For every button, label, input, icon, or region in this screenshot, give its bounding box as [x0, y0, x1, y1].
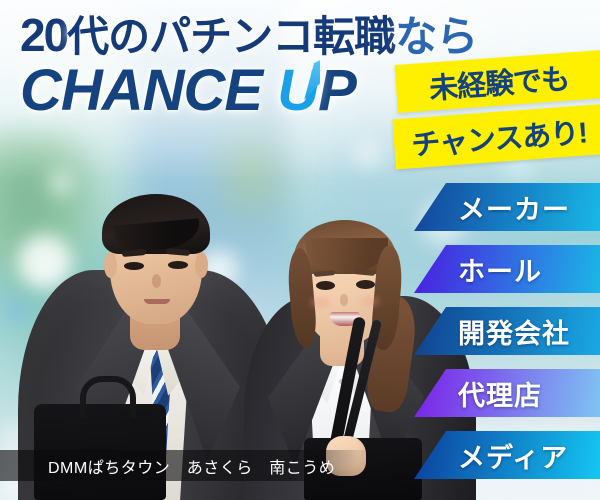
flash-band-2: チャンスあり! [392, 104, 600, 169]
flash-text-1: 未経験でも [428, 55, 571, 107]
headline-u-accent: U [277, 62, 318, 120]
credit-text: DMMぱちタウン あさくら 南こうめ [0, 454, 335, 478]
female-cheek-right [360, 296, 380, 307]
female-nose [340, 294, 348, 306]
category-badge-list: メーカー ホール 開発会社 代理店 メディア [414, 183, 600, 493]
badge-development-company[interactable]: 開発会社 [414, 307, 600, 355]
headline-p-letter: P [318, 58, 356, 123]
badge-media[interactable]: メディア [414, 431, 600, 479]
badge-label: 代理店 [458, 374, 542, 413]
flash-text-2: チャンスあり! [410, 109, 588, 164]
badge-label: メディア [458, 436, 568, 475]
male-ear-left [104, 252, 117, 278]
headline-chance: CHANCE [20, 58, 277, 123]
female-eye-right [356, 280, 375, 289]
headline-age-number: 20 [20, 9, 67, 61]
male-eye-right [168, 261, 188, 269]
male-ear-right [195, 252, 208, 278]
flash-callout: 未経験でも チャンスあり! [390, 58, 600, 162]
banner-ad[interactable]: 20代のパチンコ転職なら CHANCE UP 未経験でも チャンスあり! メーカ… [0, 0, 600, 500]
badge-hall[interactable]: ホール [414, 245, 600, 293]
badge-label: 開発会社 [458, 312, 570, 351]
headline-line-1: 20代のパチンコ転職なら [20, 12, 477, 58]
male-eye-left [124, 262, 144, 270]
female-eye-left [316, 281, 335, 290]
badge-agency[interactable]: 代理店 [414, 369, 600, 417]
flash-band-1: 未経験でも [395, 50, 600, 113]
male-mouth [144, 299, 170, 304]
credit-band: DMMぱちタウン あさくら 南こうめ [0, 450, 372, 481]
headline-line-1-tail: なら [395, 13, 477, 60]
male-nose [152, 274, 161, 288]
badge-label: メーカー [458, 188, 570, 227]
headline-line-1-mid: 代のパチンコ転職 [67, 13, 395, 60]
badge-maker[interactable]: メーカー [414, 183, 600, 231]
female-cheek-left [310, 297, 330, 308]
male-briefcase-handle [80, 376, 136, 418]
badge-label: ホール [458, 250, 542, 289]
